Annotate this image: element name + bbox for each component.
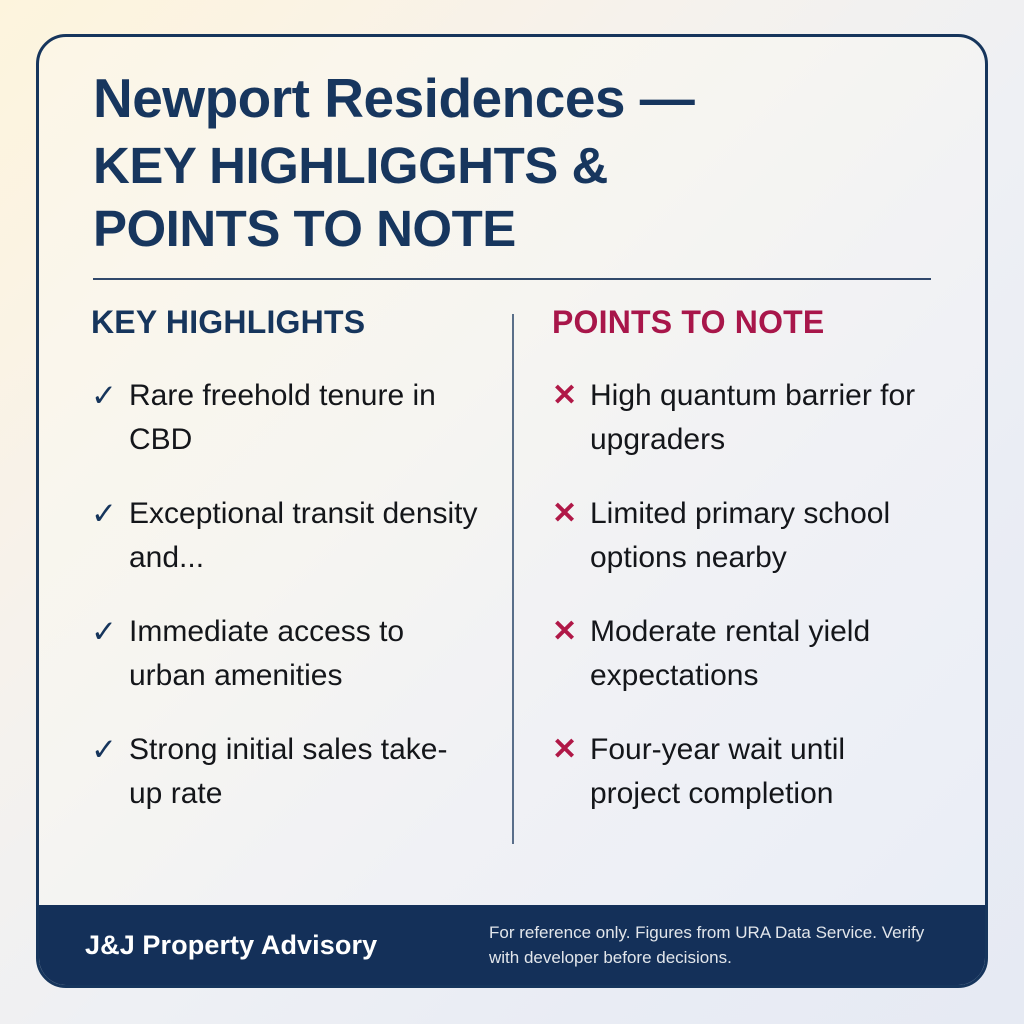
- header-divider: [93, 278, 931, 280]
- list-item: ✕ Moderate rental yield expectations: [552, 610, 933, 698]
- list-item: ✕ Four-year wait until project completio…: [552, 728, 933, 816]
- check-icon: ✓: [91, 374, 129, 418]
- list-item-text: Moderate rental yield expectations: [590, 610, 933, 698]
- column-heading-points-to-note: POINTS TO NOTE: [552, 306, 933, 340]
- cross-icon: ✕: [552, 374, 590, 418]
- footer-bar: J&J Property Advisory For reference only…: [39, 905, 985, 985]
- column-key-highlights: KEY HIGHLIGHTS ✓ Rare freehold tenure in…: [91, 306, 512, 816]
- card-body: Newport Residences — KEY HIGHLIGGHTS & P…: [39, 37, 985, 905]
- points-to-note-list: ✕ High quantum barrier for upgraders ✕ L…: [552, 374, 933, 816]
- list-item-text: Strong initial sales take-up rate: [129, 728, 478, 816]
- check-icon: ✓: [91, 492, 129, 536]
- list-item-text: Rare freehold tenure in CBD: [129, 374, 478, 462]
- column-heading-key-highlights: KEY HIGHLIGHTS: [91, 306, 478, 340]
- list-item: ✕ High quantum barrier for upgraders: [552, 374, 933, 462]
- page-title: Newport Residences — KEY HIGHLIGGHTS & P…: [91, 71, 933, 254]
- list-item: ✓ Immediate access to urban amenities: [91, 610, 478, 698]
- key-highlights-list: ✓ Rare freehold tenure in CBD ✓ Exceptio…: [91, 374, 478, 816]
- disclaimer-text: For reference only. Figures from URA Dat…: [489, 920, 939, 970]
- column-divider: [512, 314, 514, 844]
- list-item: ✓ Strong initial sales take-up rate: [91, 728, 478, 816]
- infographic-card: Newport Residences — KEY HIGHLIGGHTS & P…: [36, 34, 988, 988]
- list-item: ✓ Rare freehold tenure in CBD: [91, 374, 478, 462]
- cross-icon: ✕: [552, 610, 590, 654]
- list-item-text: Limited primary school options nearby: [590, 492, 933, 580]
- check-icon: ✓: [91, 610, 129, 654]
- list-item-text: Four-year wait until project completion: [590, 728, 933, 816]
- columns-container: KEY HIGHLIGHTS ✓ Rare freehold tenure in…: [91, 306, 933, 816]
- brand-name: J&J Property Advisory: [85, 930, 377, 961]
- cross-icon: ✕: [552, 728, 590, 772]
- cross-icon: ✕: [552, 492, 590, 536]
- list-item-text: High quantum barrier for upgraders: [590, 374, 933, 462]
- column-points-to-note: POINTS TO NOTE ✕ High quantum barrier fo…: [512, 306, 933, 816]
- list-item: ✕ Limited primary school options nearby: [552, 492, 933, 580]
- title-line-3: POINTS TO NOTE: [93, 203, 933, 254]
- title-line-2: KEY HIGHLIGGHTS &: [93, 140, 933, 191]
- check-icon: ✓: [91, 728, 129, 772]
- list-item-text: Immediate access to urban amenities: [129, 610, 478, 698]
- list-item: ✓ Exceptional transit density and...: [91, 492, 478, 580]
- title-line-1: Newport Residences —: [93, 71, 933, 126]
- list-item-text: Exceptional transit density and...: [129, 492, 478, 580]
